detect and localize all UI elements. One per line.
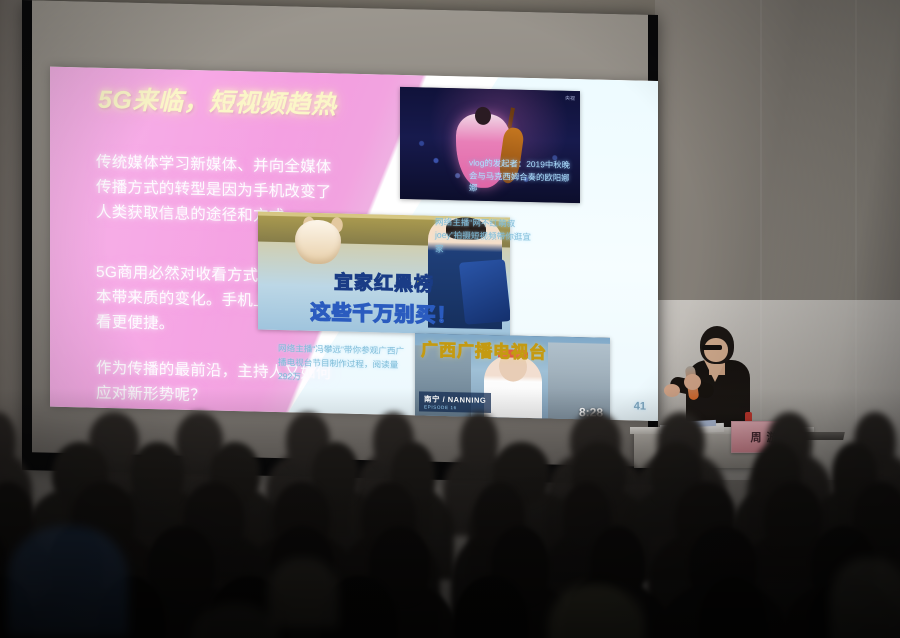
headline-part-c: 黑榜: [394, 274, 434, 296]
presenter-hand-pointer: [664, 384, 680, 397]
glasses-icon: [702, 345, 722, 350]
audience-clothing: [268, 558, 338, 628]
broadcaster-logo: 央视: [565, 95, 575, 102]
headline-part-a: 宜家: [334, 273, 374, 295]
photo-ikea-headline-primary: 宜家红黑榜: [334, 268, 434, 297]
photo-ikea-caption: 网络主播“网不红萌叔joey”拍摄短视频带你逛宜家: [435, 216, 531, 258]
photo-ikea-headline-secondary: 这些千万别买！: [311, 296, 458, 328]
projector-screen-surface: 5G来临，短视频趋热 传统媒体学习新媒体、并向全媒体传播方式的转型是因为手机改变…: [32, 0, 648, 467]
presenter-hand-mic: [684, 374, 701, 390]
lecture-hall-scene: 5G来临，短视频趋热 传统媒体学习新媒体、并向全媒体传播方式的转型是因为手机改变…: [0, 0, 900, 638]
tv-station-title: 广西广播电视台: [421, 335, 547, 363]
photo-guangxi-caption: 网络主播“冯攀远”带你参观广西广播电视台节目制作过程，阅读量292万: [278, 342, 408, 386]
location-cn: 南宁: [424, 394, 440, 403]
shopping-bag: [459, 259, 510, 325]
presentation-slide: 5G来临，短视频趋热 传统媒体学习新媒体、并向全媒体传播方式的转型是因为手机改变…: [50, 67, 658, 421]
photo-cellist: 央视 vlog的发起者：2019中秋晚会与马克西姆合奏的欧阳娜娜: [400, 87, 580, 203]
shiba-dog: [295, 220, 341, 265]
audience-member-head: [131, 442, 184, 504]
slide-title: 5G来临，短视频趋热: [98, 84, 348, 122]
photo-cellist-caption: vlog的发起者：2019中秋晚会与马克西姆合奏的欧阳娜娜: [469, 157, 573, 197]
headline-part-b: 红: [374, 274, 394, 295]
audience-member-head: [148, 526, 215, 604]
audience-clothing: [8, 526, 128, 636]
presenter-face: [704, 338, 728, 362]
location-en: NANNING: [448, 395, 487, 405]
audience-clothing: [830, 558, 900, 638]
audience-member-head: [460, 412, 498, 468]
audience: [0, 408, 900, 638]
cellist-head: [475, 107, 491, 125]
audience-member-head: [764, 482, 822, 552]
